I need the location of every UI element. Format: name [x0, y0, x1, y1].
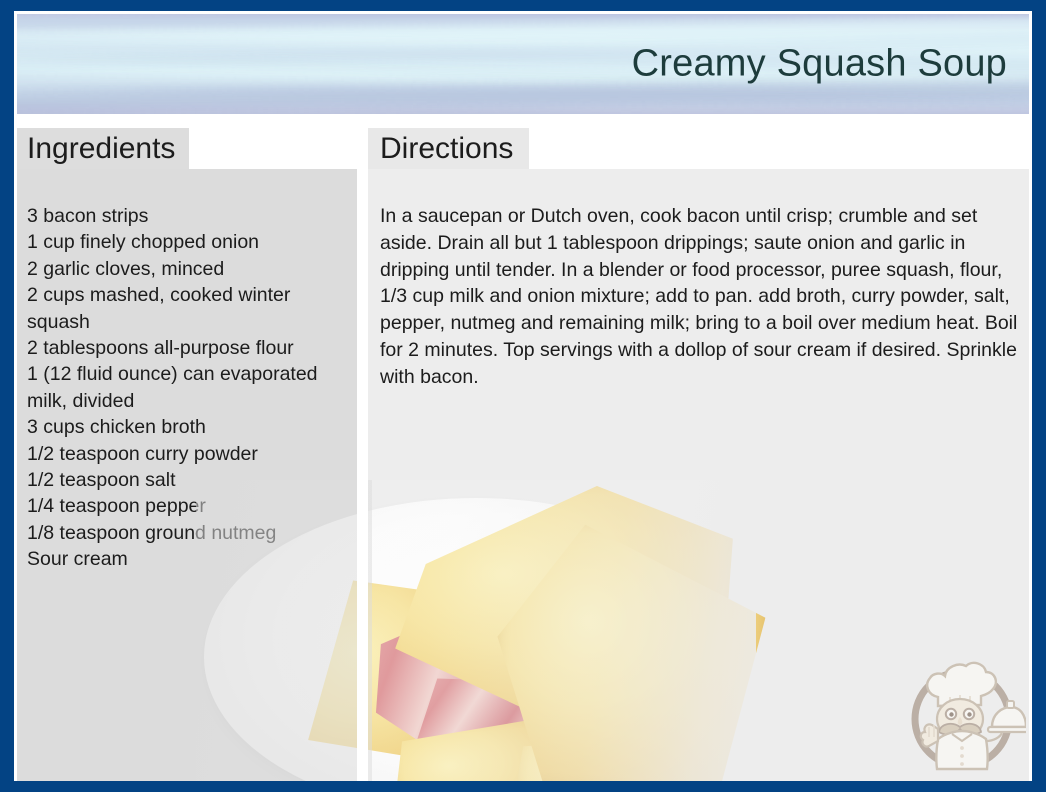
recipe-title: Creamy Squash Soup — [632, 43, 1007, 86]
toast-slice-right — [487, 519, 771, 781]
toast-slice-top — [380, 479, 742, 727]
food-photo-left-wash — [196, 480, 372, 781]
recipe-card: Creamy Squash Soup 3 bacon strips 1 cup … — [0, 0, 1046, 792]
page-surface: Creamy Squash Soup 3 bacon strips 1 cup … — [14, 11, 1032, 781]
bacon-slice-lower — [411, 668, 582, 781]
food-photo-clip — [14, 114, 1032, 781]
banner-wave-1 — [17, 14, 1029, 32]
content-area: 3 bacon strips 1 cup finely chopped onio… — [14, 114, 1032, 781]
toast-slice-front-a — [388, 717, 567, 781]
chef-logo-icon — [902, 651, 1026, 773]
food-photo — [196, 480, 756, 781]
plate — [204, 498, 748, 781]
header-banner: Creamy Squash Soup — [17, 14, 1029, 114]
toast-slice-front-b — [511, 729, 694, 781]
column-gutter — [357, 114, 368, 781]
bacon-slice-front — [361, 576, 622, 776]
food-photo-fade-overlay — [196, 480, 756, 781]
toast-slice-left — [285, 571, 498, 781]
